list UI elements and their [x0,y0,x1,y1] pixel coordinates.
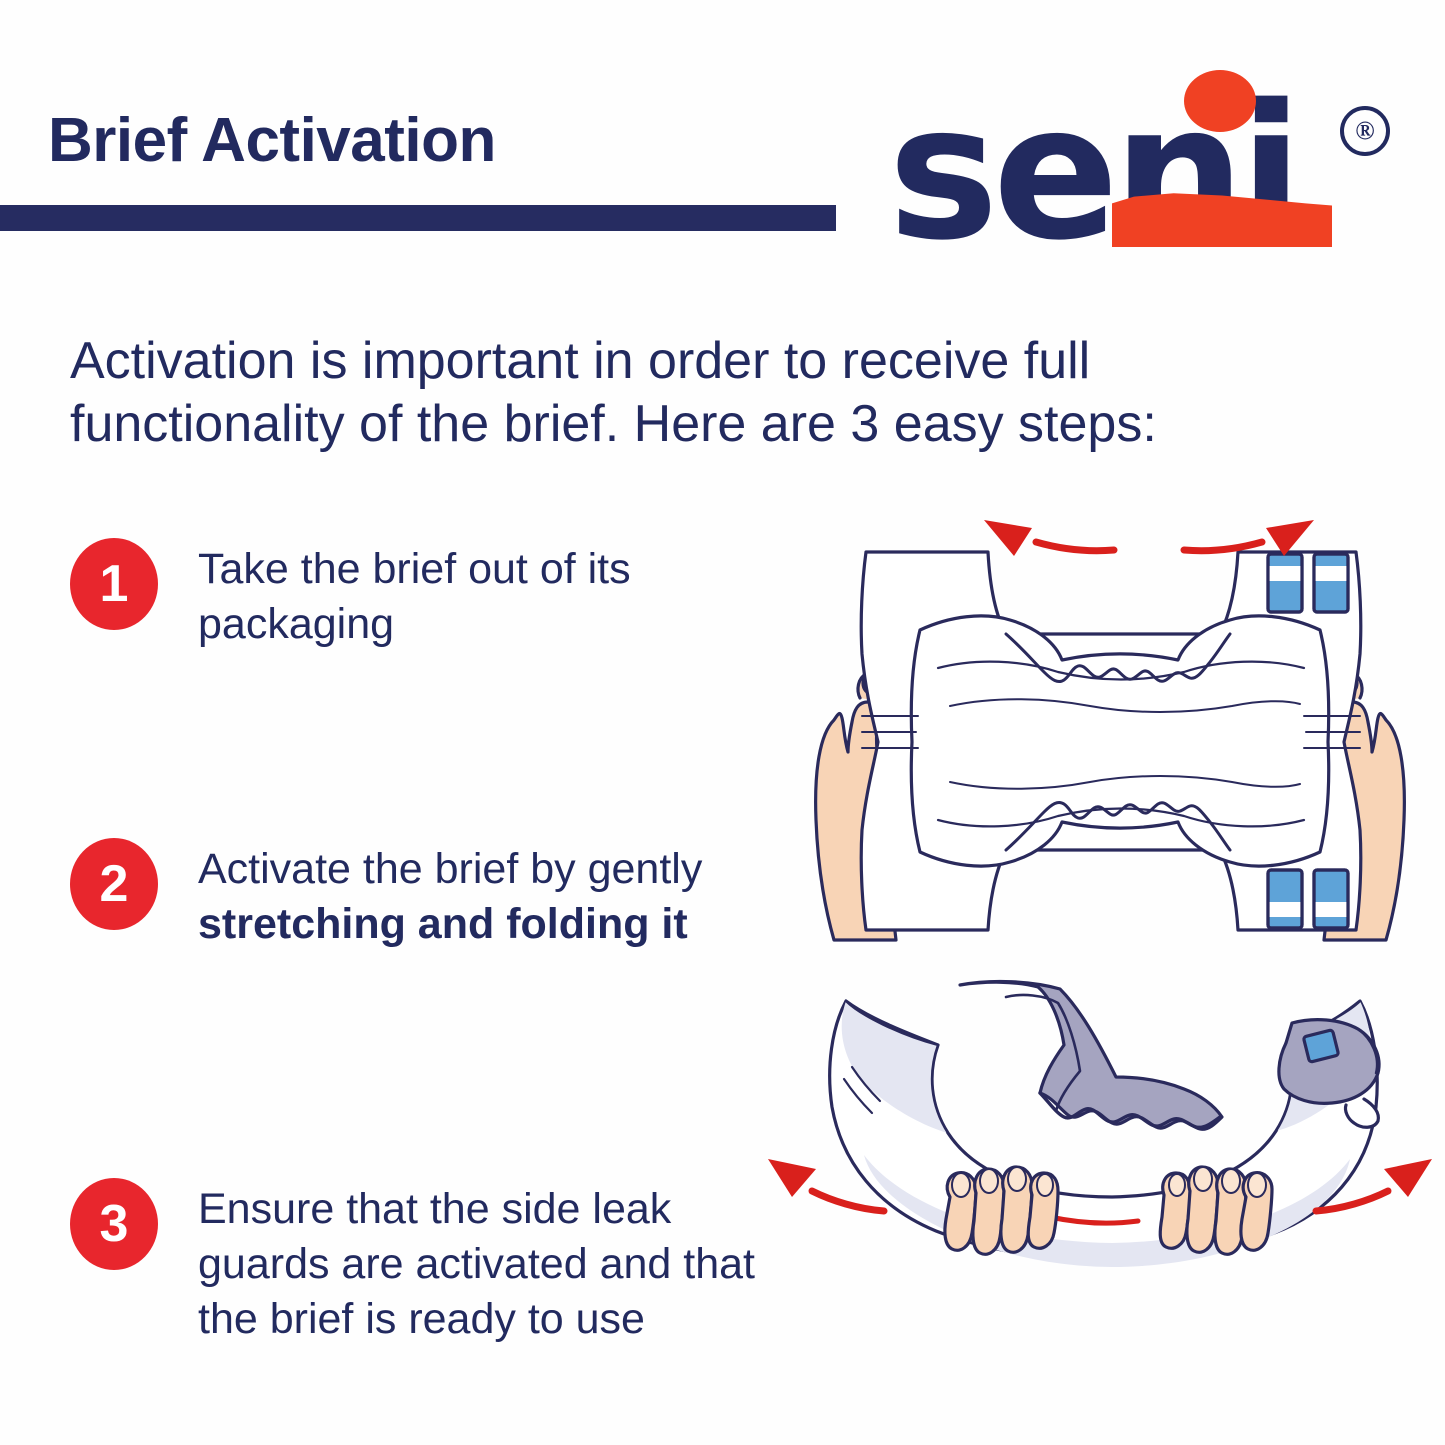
step-number-badge: 1 [70,538,158,630]
infographic-page: Brief Activation seni ® Activation is im… [0,0,1445,1445]
step-text-normal: Take the brief out of its packaging [198,545,631,648]
seni-logo: seni ® [888,58,1383,258]
registered-trademark-icon: ® [1340,106,1390,156]
step-text: Ensure that the side leak guards are act… [198,1178,770,1347]
step-number-badge: 2 [70,838,158,930]
brief-fold-illustration [760,975,1440,1295]
step-item-3: 3 Ensure that the side leak guards are a… [70,1178,770,1347]
step-text: Take the brief out of its packaging [198,538,770,652]
step-item-1: 1 Take the brief out of its packaging [70,538,770,652]
step-text-normal: Ensure that the side leak guards are act… [198,1185,755,1343]
step-item-2: 2 Activate the brief by gently stretchin… [70,838,770,952]
step-text-bold: stretching and folding it [198,900,688,948]
logo-dot-icon [1184,70,1256,132]
arrow-left-icon [984,520,1114,556]
step-number-badge: 3 [70,1178,158,1270]
brief-stretch-illustration [800,520,1420,950]
steps-list: 1 Take the brief out of its packaging 2 … [0,0,790,1445]
step-text-normal: Activate the brief by gently [198,845,702,893]
logo-wave-icon [1112,191,1332,247]
step-text: Activate the brief by gently stretching … [198,838,770,952]
